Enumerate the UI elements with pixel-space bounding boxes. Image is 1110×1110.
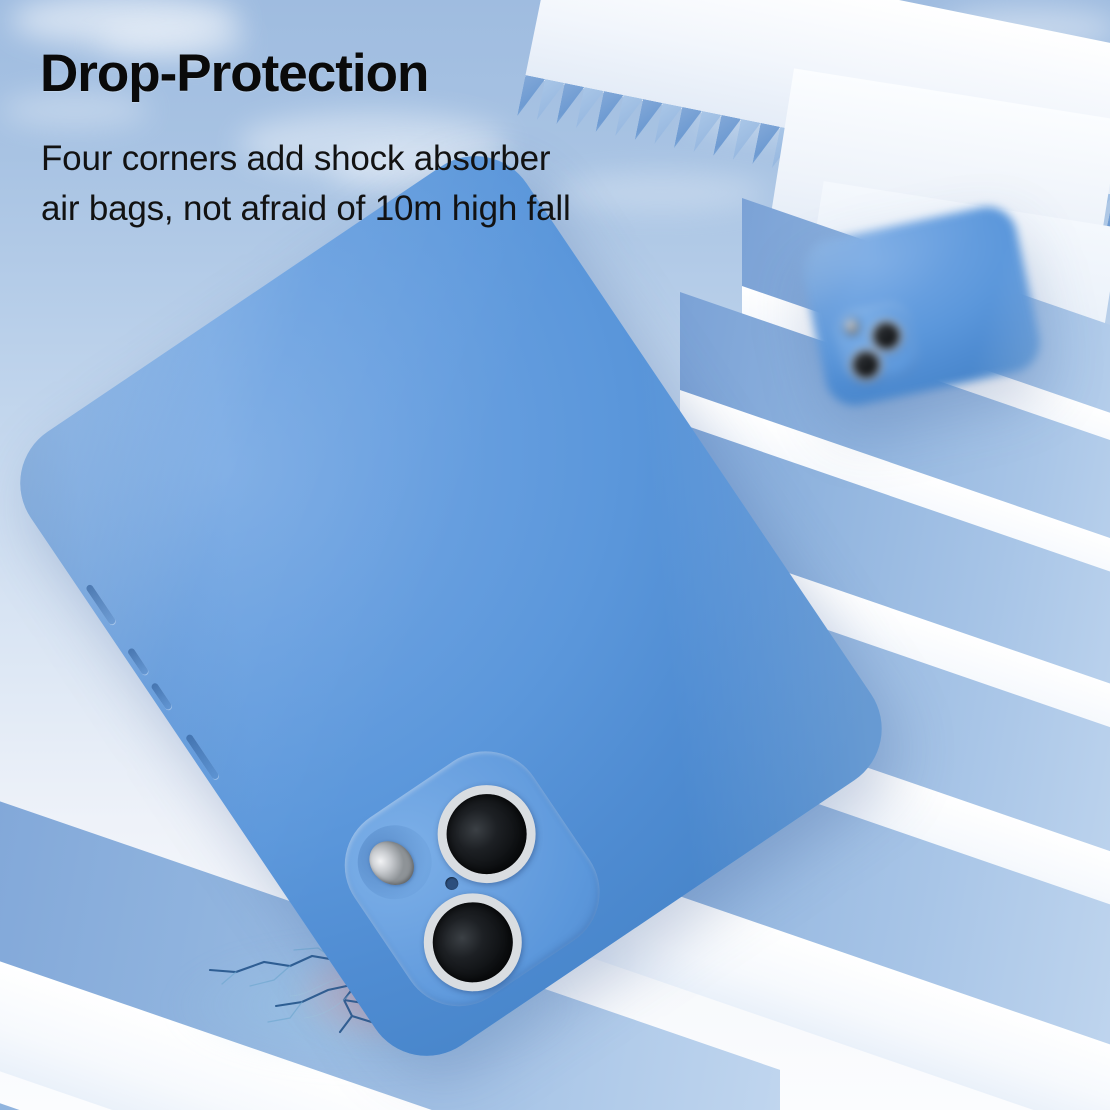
microphone-icon xyxy=(443,874,461,892)
camera-lens xyxy=(419,766,555,902)
product-image-canvas: Drop-Protection Four corners add shock a… xyxy=(0,0,1110,1110)
lens-glint xyxy=(457,807,501,850)
lens-glint xyxy=(858,356,871,368)
page-title: Drop-Protection xyxy=(40,47,428,100)
lens-glint xyxy=(879,327,892,339)
lens-glint xyxy=(443,915,487,958)
subtitle-line-1: Four corners add shock absorber xyxy=(41,134,571,184)
camera-lens xyxy=(847,346,885,384)
subtitle: Four corners add shock absorber air bags… xyxy=(41,134,571,233)
camera-lens xyxy=(867,317,905,355)
subtitle-line-2: air bags, not afraid of 10m high fall xyxy=(41,184,571,234)
